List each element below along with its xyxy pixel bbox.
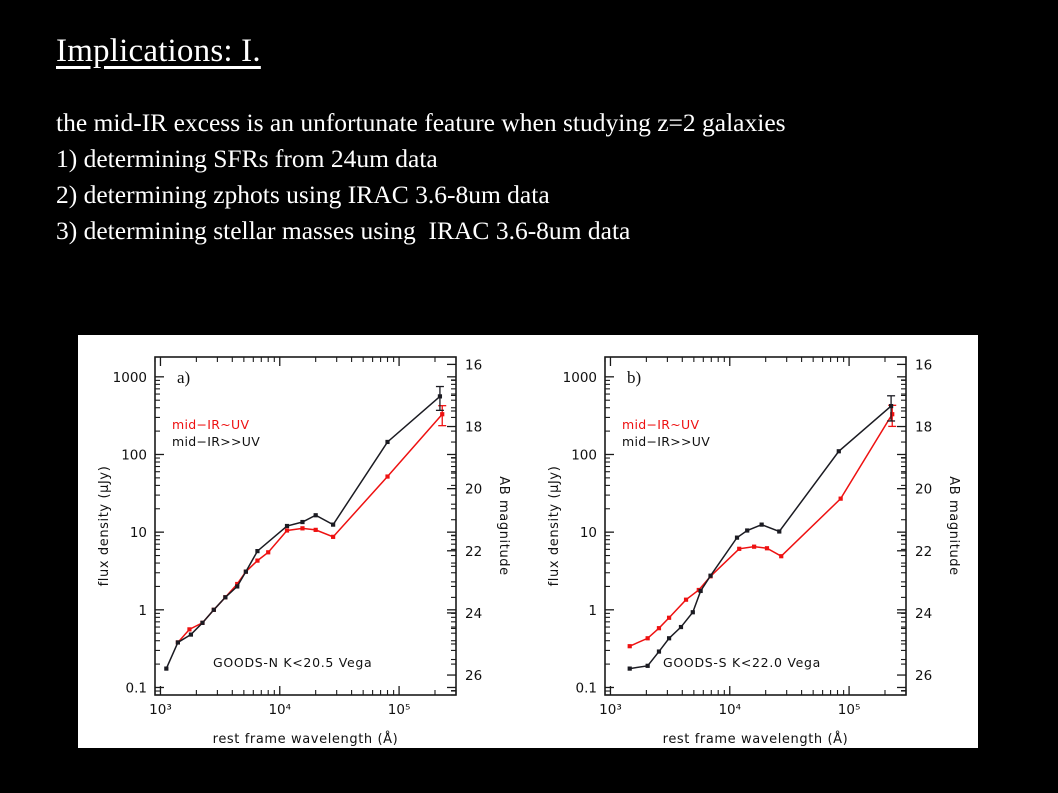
data-point-marker (255, 549, 259, 553)
y2-tick-label: 24 (465, 606, 482, 622)
y-tick-label: 1 (588, 603, 597, 619)
data-point-marker (331, 535, 335, 539)
data-point-marker (667, 636, 671, 640)
x-tick-label: 10⁴ (268, 702, 291, 718)
data-point-marker (255, 559, 259, 563)
data-point-marker (691, 610, 695, 614)
data-point-marker (765, 546, 769, 550)
y-tick-label: 0.1 (576, 680, 597, 696)
data-point-marker (164, 666, 168, 670)
data-point-marker (244, 570, 248, 574)
y2-tick-label: 26 (465, 668, 482, 684)
data-point-marker (745, 528, 749, 532)
x-axis-title: rest frame wavelength (Å) (663, 731, 849, 747)
y-tick-label: 1000 (563, 370, 597, 386)
chart-panel-a: 10³10⁴10⁵0.11101001000161820222426rest f… (78, 335, 528, 748)
data-point-marker (314, 528, 318, 532)
legend-entry-mid-ir-gg-uv: mid−IR>>UV (622, 434, 710, 449)
data-point-marker (646, 636, 650, 640)
data-series-line (630, 414, 893, 646)
y-tick-label: 1 (138, 603, 147, 619)
chart-svg-b: 10³10⁴10⁵0.11101001000161820222426rest f… (528, 335, 978, 748)
y-tick-label: 100 (121, 447, 147, 463)
panel-letter: a) (177, 368, 190, 387)
data-point-marker (657, 626, 661, 630)
body-line-1: 1) determining SFRs from 24um data (56, 141, 1016, 177)
data-point-marker (735, 536, 739, 540)
data-point-marker (300, 520, 304, 524)
data-point-marker (646, 664, 650, 668)
data-point-marker (779, 554, 783, 558)
x-tick-label: 10⁴ (718, 702, 741, 718)
data-point-marker (285, 524, 289, 528)
data-point-marker (385, 440, 389, 444)
data-point-marker (667, 616, 671, 620)
y-tick-label: 100 (571, 447, 597, 463)
data-point-marker (839, 497, 843, 501)
data-point-marker (837, 449, 841, 453)
legend-entry-mid-ir-uv: mid−IR~UV (622, 417, 699, 432)
data-point-marker (628, 666, 632, 670)
legend-entry-mid-ir-uv: mid−IR~UV (172, 417, 249, 432)
x-axis-title: rest frame wavelength (Å) (213, 731, 399, 747)
page-title: Implications: I. (56, 34, 1016, 69)
data-point-marker (385, 474, 389, 478)
data-point-marker (187, 627, 191, 631)
y2-tick-label: 16 (465, 357, 482, 373)
y-tick-label: 1000 (113, 370, 147, 386)
panel-annotation: GOODS-N K<20.5 Vega (213, 655, 372, 670)
y-tick-label: 0.1 (126, 680, 147, 696)
y2-tick-label: 24 (915, 606, 932, 622)
y-tick-label: 10 (580, 525, 597, 541)
y2-axis-title: AB magnitude (496, 476, 511, 575)
chart-panel-b: 10³10⁴10⁵0.11101001000161820222426rest f… (528, 335, 978, 748)
data-point-marker (737, 547, 741, 551)
y-axis-title: flux density (μJy) (547, 466, 562, 587)
data-point-marker (300, 526, 304, 530)
x-tick-label: 10⁵ (388, 702, 411, 718)
data-point-marker (285, 528, 289, 532)
slide-root: Implications: I. the mid-IR excess is an… (0, 0, 1058, 793)
legend-entry-mid-ir-gg-uv: mid−IR>>UV (172, 434, 260, 449)
data-point-marker (212, 608, 216, 612)
figure-panel-container: 10³10⁴10⁵0.11101001000161820222426rest f… (78, 335, 978, 748)
y2-tick-label: 22 (915, 544, 932, 560)
data-point-marker (777, 529, 781, 533)
data-point-marker (223, 595, 227, 599)
x-tick-label: 10³ (599, 702, 622, 718)
y2-tick-label: 26 (915, 668, 932, 684)
y-tick-label: 10 (130, 525, 147, 541)
body-line-2: 2) determining zphots using IRAC 3.6-8um… (56, 177, 1016, 213)
body-line-3: 3) determining stellar masses using IRAC… (56, 213, 1016, 249)
slide-text-block: Implications: I. the mid-IR excess is an… (56, 34, 1016, 249)
data-point-marker (752, 545, 756, 549)
data-point-marker (200, 621, 204, 625)
data-point-marker (708, 574, 712, 578)
data-point-marker (266, 550, 270, 554)
data-point-marker (176, 640, 180, 644)
y2-tick-label: 18 (915, 420, 932, 436)
data-point-marker (657, 649, 661, 653)
y2-tick-label: 16 (915, 357, 932, 373)
y2-tick-label: 20 (465, 482, 482, 498)
data-point-marker (235, 584, 239, 588)
panel-annotation: GOODS-S K<22.0 Vega (663, 655, 821, 670)
body-line-0: the mid-IR excess is an unfortunate feat… (56, 105, 1016, 141)
data-point-marker (679, 625, 683, 629)
data-point-marker (628, 644, 632, 648)
data-point-marker (189, 632, 193, 636)
data-point-marker (314, 513, 318, 517)
y2-tick-label: 18 (465, 420, 482, 436)
y-axis-title: flux density (μJy) (97, 466, 112, 587)
data-point-marker (699, 589, 703, 593)
x-tick-label: 10⁵ (838, 702, 861, 718)
y2-tick-label: 22 (465, 544, 482, 560)
x-tick-label: 10³ (149, 702, 172, 718)
data-point-marker (760, 523, 764, 527)
chart-svg-a: 10³10⁴10⁵0.11101001000161820222426rest f… (78, 335, 528, 748)
y2-tick-label: 20 (915, 482, 932, 498)
data-point-marker (331, 523, 335, 527)
panel-letter: b) (627, 368, 641, 387)
y2-axis-title: AB magnitude (946, 476, 961, 575)
data-point-marker (684, 598, 688, 602)
